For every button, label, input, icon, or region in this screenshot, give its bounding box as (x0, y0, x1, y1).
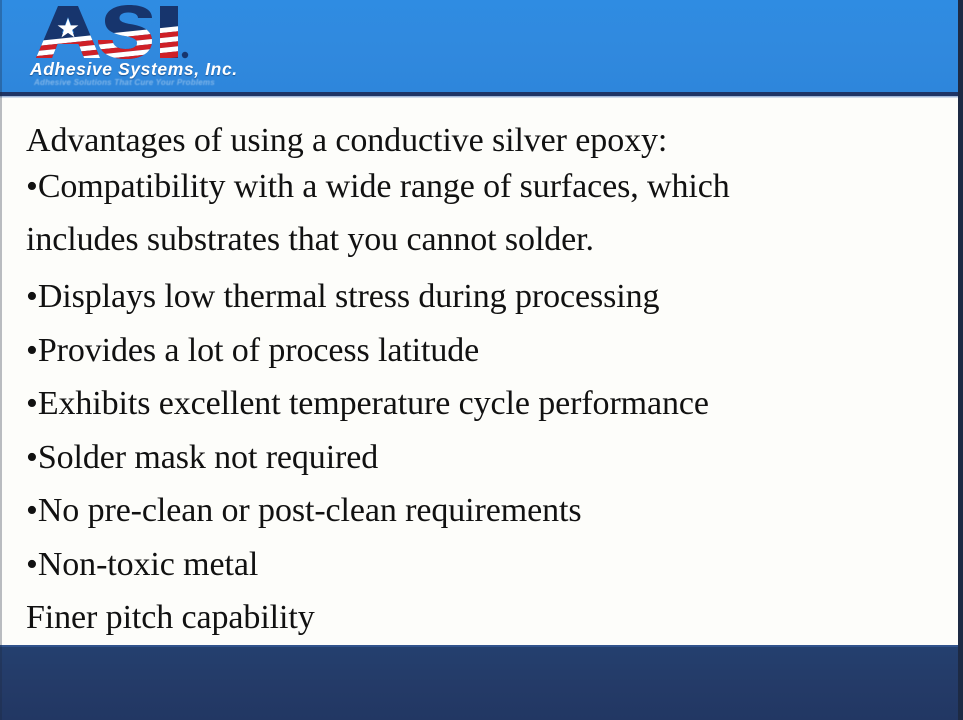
bullet-marker: • (26, 439, 38, 476)
bullet-item-1: •Compatibility with a wide range of surf… (26, 164, 926, 210)
logo-company-name: Adhesive Systems, Inc. (30, 60, 268, 79)
bullet-text: No pre-clean or post-clean requirements (38, 492, 582, 529)
bullet-item-6: •No pre-clean or post-clean requirements (26, 484, 926, 538)
bullet-item-1-continuation: includes substrates that you cannot sold… (26, 217, 926, 263)
bullet-text: Compatibility with a wide range of surfa… (38, 168, 730, 205)
slide-title: Advantages of using a conductive silver … (26, 118, 926, 164)
slide-right-edge (958, 0, 963, 720)
bullet-item-5: •Solder mask not required (26, 431, 926, 485)
footer-top-edge (0, 645, 963, 647)
bullet-marker: • (26, 168, 38, 205)
bullet-item-3: •Provides a lot of process latitude (26, 324, 926, 378)
bullet-marker: • (26, 332, 38, 369)
logo-tagline: Adhesive Solutions That Cure Your Proble… (34, 78, 264, 87)
slide-body: Advantages of using a conductive silver … (0, 98, 963, 645)
slide-header-banner: Adhesive Systems, Inc. Adhesive Solution… (0, 0, 963, 92)
bullet-marker: • (26, 385, 38, 422)
slide-canvas: Adhesive Systems, Inc. Adhesive Solution… (0, 0, 963, 720)
bullet-text: Non-toxic metal (38, 546, 258, 583)
bullet-text: Finer pitch capability (26, 599, 315, 636)
bullet-marker: • (26, 492, 38, 529)
bullet-text: Provides a lot of process latitude (38, 332, 479, 369)
bullet-item-2: •Displays low thermal stress during proc… (26, 270, 926, 324)
bullet-text: Exhibits excellent temperature cycle per… (38, 385, 709, 422)
bullet-text: Displays low thermal stress during proce… (38, 278, 660, 315)
slide-footer-banner (0, 645, 963, 720)
bullet-marker: • (26, 278, 38, 315)
asi-logo: Adhesive Systems, Inc. Adhesive Solution… (30, 4, 270, 90)
bullet-marker: • (26, 546, 38, 583)
bullet-text: Solder mask not required (38, 439, 378, 476)
bullet-item-8: Finer pitch capability (26, 591, 926, 645)
slide-left-edge (0, 0, 2, 720)
asi-logo-mark-icon (32, 4, 252, 60)
slide-content-block: Advantages of using a conductive silver … (26, 118, 926, 645)
bullet-item-7: •Non-toxic metal (26, 538, 926, 592)
bullet-item-4: •Exhibits excellent temperature cycle pe… (26, 377, 926, 431)
